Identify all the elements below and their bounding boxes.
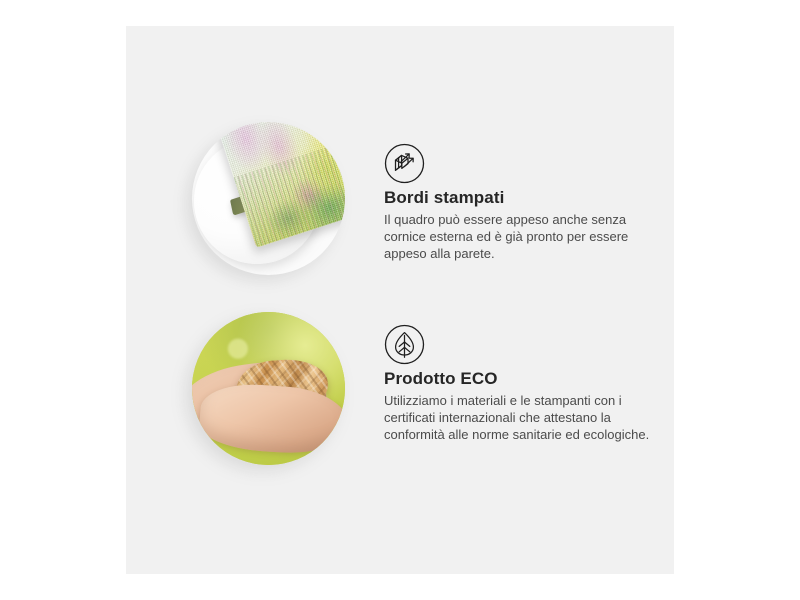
- feature-title-eco: Prodotto ECO: [384, 369, 498, 389]
- infographic-stage: Bordi stampati Il quadro può essere appe…: [0, 0, 800, 600]
- printed-edges-icon: [384, 143, 425, 184]
- feature-description-eco: Utilizziamo i materiali e le stampanti c…: [384, 392, 650, 443]
- content-panel: [126, 26, 674, 574]
- canvas-print-corner-photo: [192, 122, 345, 275]
- hands-holding-wood-chips-photo: [192, 312, 345, 465]
- leaf-icon: [384, 324, 425, 365]
- feature-description-printed-edges: Il quadro può essere appeso anche senza …: [384, 211, 650, 262]
- feature-title-printed-edges: Bordi stampati: [384, 188, 504, 208]
